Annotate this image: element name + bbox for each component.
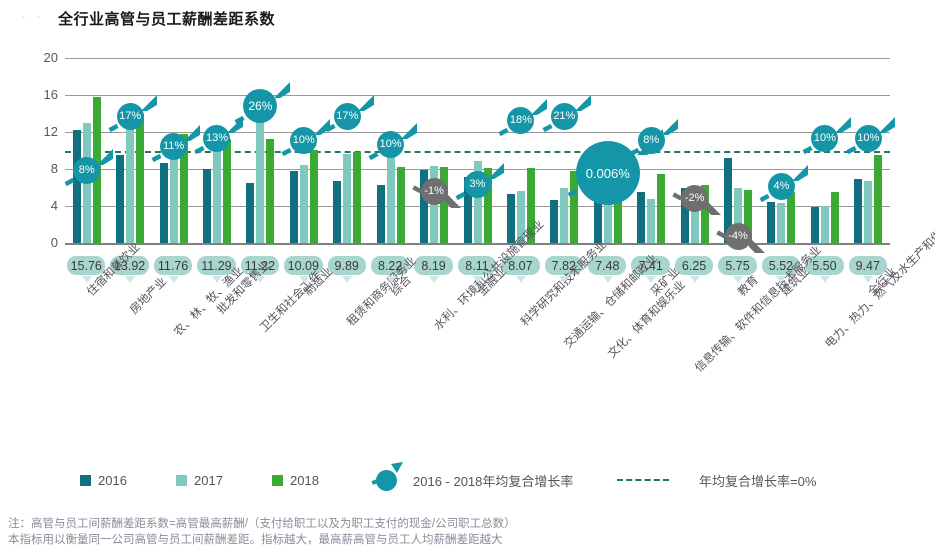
cagr-arrow-icon bbox=[835, 117, 857, 144]
category-tick-icon bbox=[125, 276, 135, 283]
bar-group[interactable] bbox=[246, 58, 274, 243]
bar-2017[interactable] bbox=[343, 154, 351, 243]
cagr-bubble[interactable]: 11% bbox=[160, 133, 187, 160]
category-tick-icon bbox=[429, 276, 439, 283]
cagr-bubble[interactable]: -1% bbox=[421, 178, 448, 205]
title-decoration-icon: · · bbox=[22, 12, 46, 22]
bar-2016[interactable] bbox=[507, 194, 515, 243]
cagr-arrow-icon bbox=[879, 117, 901, 144]
legend-swatch-2016 bbox=[80, 475, 91, 486]
bar-2017[interactable] bbox=[821, 206, 829, 243]
y-axis-tick-label: 16 bbox=[24, 89, 58, 101]
category-tick-icon bbox=[342, 276, 352, 283]
cagr-bubble[interactable]: 8% bbox=[638, 127, 665, 154]
bar-2017[interactable] bbox=[864, 181, 872, 243]
legend-label-cagr: 2016 - 2018年均复合增长率 bbox=[413, 471, 573, 490]
bar-2018[interactable] bbox=[266, 139, 274, 243]
cagr-arrow-icon bbox=[488, 163, 510, 190]
category-tick-icon bbox=[603, 276, 613, 283]
plot-area: 8%17%11%13%26%10%17%10%-1%3%18%21%0.006%… bbox=[65, 58, 890, 243]
cagr-bubble[interactable]: -2% bbox=[681, 185, 708, 212]
page-title: 全行业高管与员工薪酬差距系数 bbox=[58, 8, 275, 29]
bar-2016[interactable] bbox=[290, 171, 298, 243]
cagr-arrow-icon bbox=[749, 237, 771, 264]
cagr-arrow-icon bbox=[705, 199, 727, 226]
legend-item-zero[interactable]: 年均复合增长率=0% bbox=[617, 470, 816, 490]
bar-2017[interactable] bbox=[777, 203, 785, 243]
bar-2018[interactable] bbox=[831, 192, 839, 243]
cagr-arrow-icon bbox=[401, 123, 423, 150]
legend-label-2018: 2018 bbox=[290, 473, 319, 488]
legend-item-2018[interactable]: 2018 bbox=[272, 470, 319, 490]
cagr-bubble[interactable]: 17% bbox=[334, 103, 361, 130]
y-axis-tick-label: 12 bbox=[24, 126, 58, 138]
bar-2018[interactable] bbox=[787, 192, 795, 243]
bar-2018[interactable] bbox=[136, 114, 144, 243]
bar-2016[interactable] bbox=[854, 179, 862, 243]
bar-2018[interactable] bbox=[223, 139, 231, 243]
bar-group[interactable] bbox=[550, 58, 578, 243]
legend-item-cagr[interactable]: 2016 - 2018年均复合增长率 bbox=[376, 470, 573, 490]
cagr-arrow-icon bbox=[274, 82, 296, 109]
cagr-bubble-icon bbox=[376, 470, 397, 491]
bar-2017[interactable] bbox=[126, 118, 134, 243]
bar-group[interactable] bbox=[767, 58, 795, 243]
cagr-bubble[interactable]: 4% bbox=[768, 173, 795, 200]
y-axis-tick-label: 0 bbox=[24, 237, 58, 249]
bar-group[interactable] bbox=[507, 58, 535, 243]
bar-2016[interactable] bbox=[246, 183, 254, 243]
legend-swatch-2017 bbox=[176, 475, 187, 486]
cagr-bubble[interactable]: 8% bbox=[73, 157, 100, 184]
cagr-bubble[interactable]: 0.006% bbox=[576, 141, 640, 205]
cagr-bubble[interactable]: 10% bbox=[290, 127, 317, 154]
cagr-arrow-icon bbox=[358, 95, 380, 122]
legend-label-zero: 年均复合增长率=0% bbox=[699, 471, 816, 490]
category-tick-icon bbox=[169, 276, 179, 283]
y-axis-tick-label: 4 bbox=[24, 200, 58, 212]
cagr-bubble[interactable]: 13% bbox=[203, 125, 230, 152]
footnote-line-2: 本指标用以衡量同一公司高管与员工间薪酬差距。指标越大，最高薪高管与员工人均薪酬差… bbox=[8, 532, 928, 548]
bar-group[interactable] bbox=[464, 58, 492, 243]
cagr-arrow-icon bbox=[792, 165, 814, 192]
cagr-arrow-icon bbox=[662, 119, 684, 146]
y-axis-tick-label: 8 bbox=[24, 163, 58, 175]
cagr-bubble[interactable]: -4% bbox=[725, 223, 752, 250]
zero-line-icon bbox=[617, 479, 669, 481]
bar-2018[interactable] bbox=[353, 152, 361, 243]
bar-2016[interactable] bbox=[333, 181, 341, 243]
category-tick-icon bbox=[690, 276, 700, 283]
bar-group[interactable] bbox=[333, 58, 361, 243]
y-axis: 048121620 bbox=[22, 58, 58, 248]
category-tick-icon bbox=[255, 276, 265, 283]
chart-header: · · 全行业高管与员工薪酬差距系数 bbox=[22, 6, 902, 32]
cagr-bubble[interactable]: 10% bbox=[811, 125, 838, 152]
bar-2016[interactable] bbox=[377, 185, 385, 243]
bar-2017[interactable] bbox=[647, 199, 655, 243]
chart-legend: 2016 2017 2018 2016 - 2018年均复合增长率 年均复合增长… bbox=[80, 470, 880, 492]
bar-2016[interactable] bbox=[203, 169, 211, 243]
footnote-line-1: 注：高管与员工间薪酬差距系数=高管最高薪酬/（支付给职工以及为职工支付的现金/公… bbox=[8, 516, 928, 532]
bar-2016[interactable] bbox=[811, 207, 819, 243]
y-axis-tick-label: 20 bbox=[24, 52, 58, 64]
legend-label-2016: 2016 bbox=[98, 473, 127, 488]
category-tick-icon bbox=[820, 276, 830, 283]
cagr-bubble[interactable]: 10% bbox=[377, 131, 404, 158]
cagr-arrow-icon bbox=[141, 95, 163, 122]
bar-2018[interactable] bbox=[310, 150, 318, 243]
category-tick-icon bbox=[516, 276, 526, 283]
bar-2017[interactable] bbox=[300, 165, 308, 243]
bar-group[interactable] bbox=[116, 58, 144, 243]
legend-item-2016[interactable]: 2016 bbox=[80, 470, 127, 490]
cagr-bubble[interactable]: 18% bbox=[507, 107, 534, 134]
category-tick-icon bbox=[212, 276, 222, 283]
footnote: 注：高管与员工间薪酬差距系数=高管最高薪酬/（支付给职工以及为职工支付的现金/公… bbox=[8, 516, 928, 548]
cagr-arrow-icon bbox=[575, 95, 597, 122]
category-label-row: 住宿和餐饮业房地产业农、林、牧、渔业批发和零售业卫生和社会工作制造业租赁和商务服… bbox=[0, 276, 935, 456]
cagr-bubble[interactable]: 17% bbox=[117, 103, 144, 130]
bar-2018[interactable] bbox=[657, 174, 665, 243]
cagr-bubble[interactable]: 3% bbox=[464, 171, 491, 198]
bar-2016[interactable] bbox=[160, 163, 168, 243]
bar-2016[interactable] bbox=[550, 200, 558, 243]
bar-2016[interactable] bbox=[637, 192, 645, 243]
legend-swatch-2018 bbox=[272, 475, 283, 486]
cagr-arrow-tail-icon bbox=[568, 186, 580, 204]
cagr-bubble[interactable]: 10% bbox=[855, 125, 882, 152]
cagr-bubble[interactable]: 21% bbox=[551, 103, 578, 130]
bar-2018[interactable] bbox=[874, 155, 882, 243]
value-pill: 8.19 bbox=[414, 256, 452, 275]
cagr-arrow-icon bbox=[97, 149, 119, 176]
bar-group[interactable] bbox=[724, 58, 752, 243]
category-tick-icon bbox=[559, 276, 569, 283]
bar-2018[interactable] bbox=[397, 167, 405, 243]
legend-label-2017: 2017 bbox=[194, 473, 223, 488]
legend-item-2017[interactable]: 2017 bbox=[176, 470, 223, 490]
value-pill: 11.76 bbox=[154, 256, 192, 275]
